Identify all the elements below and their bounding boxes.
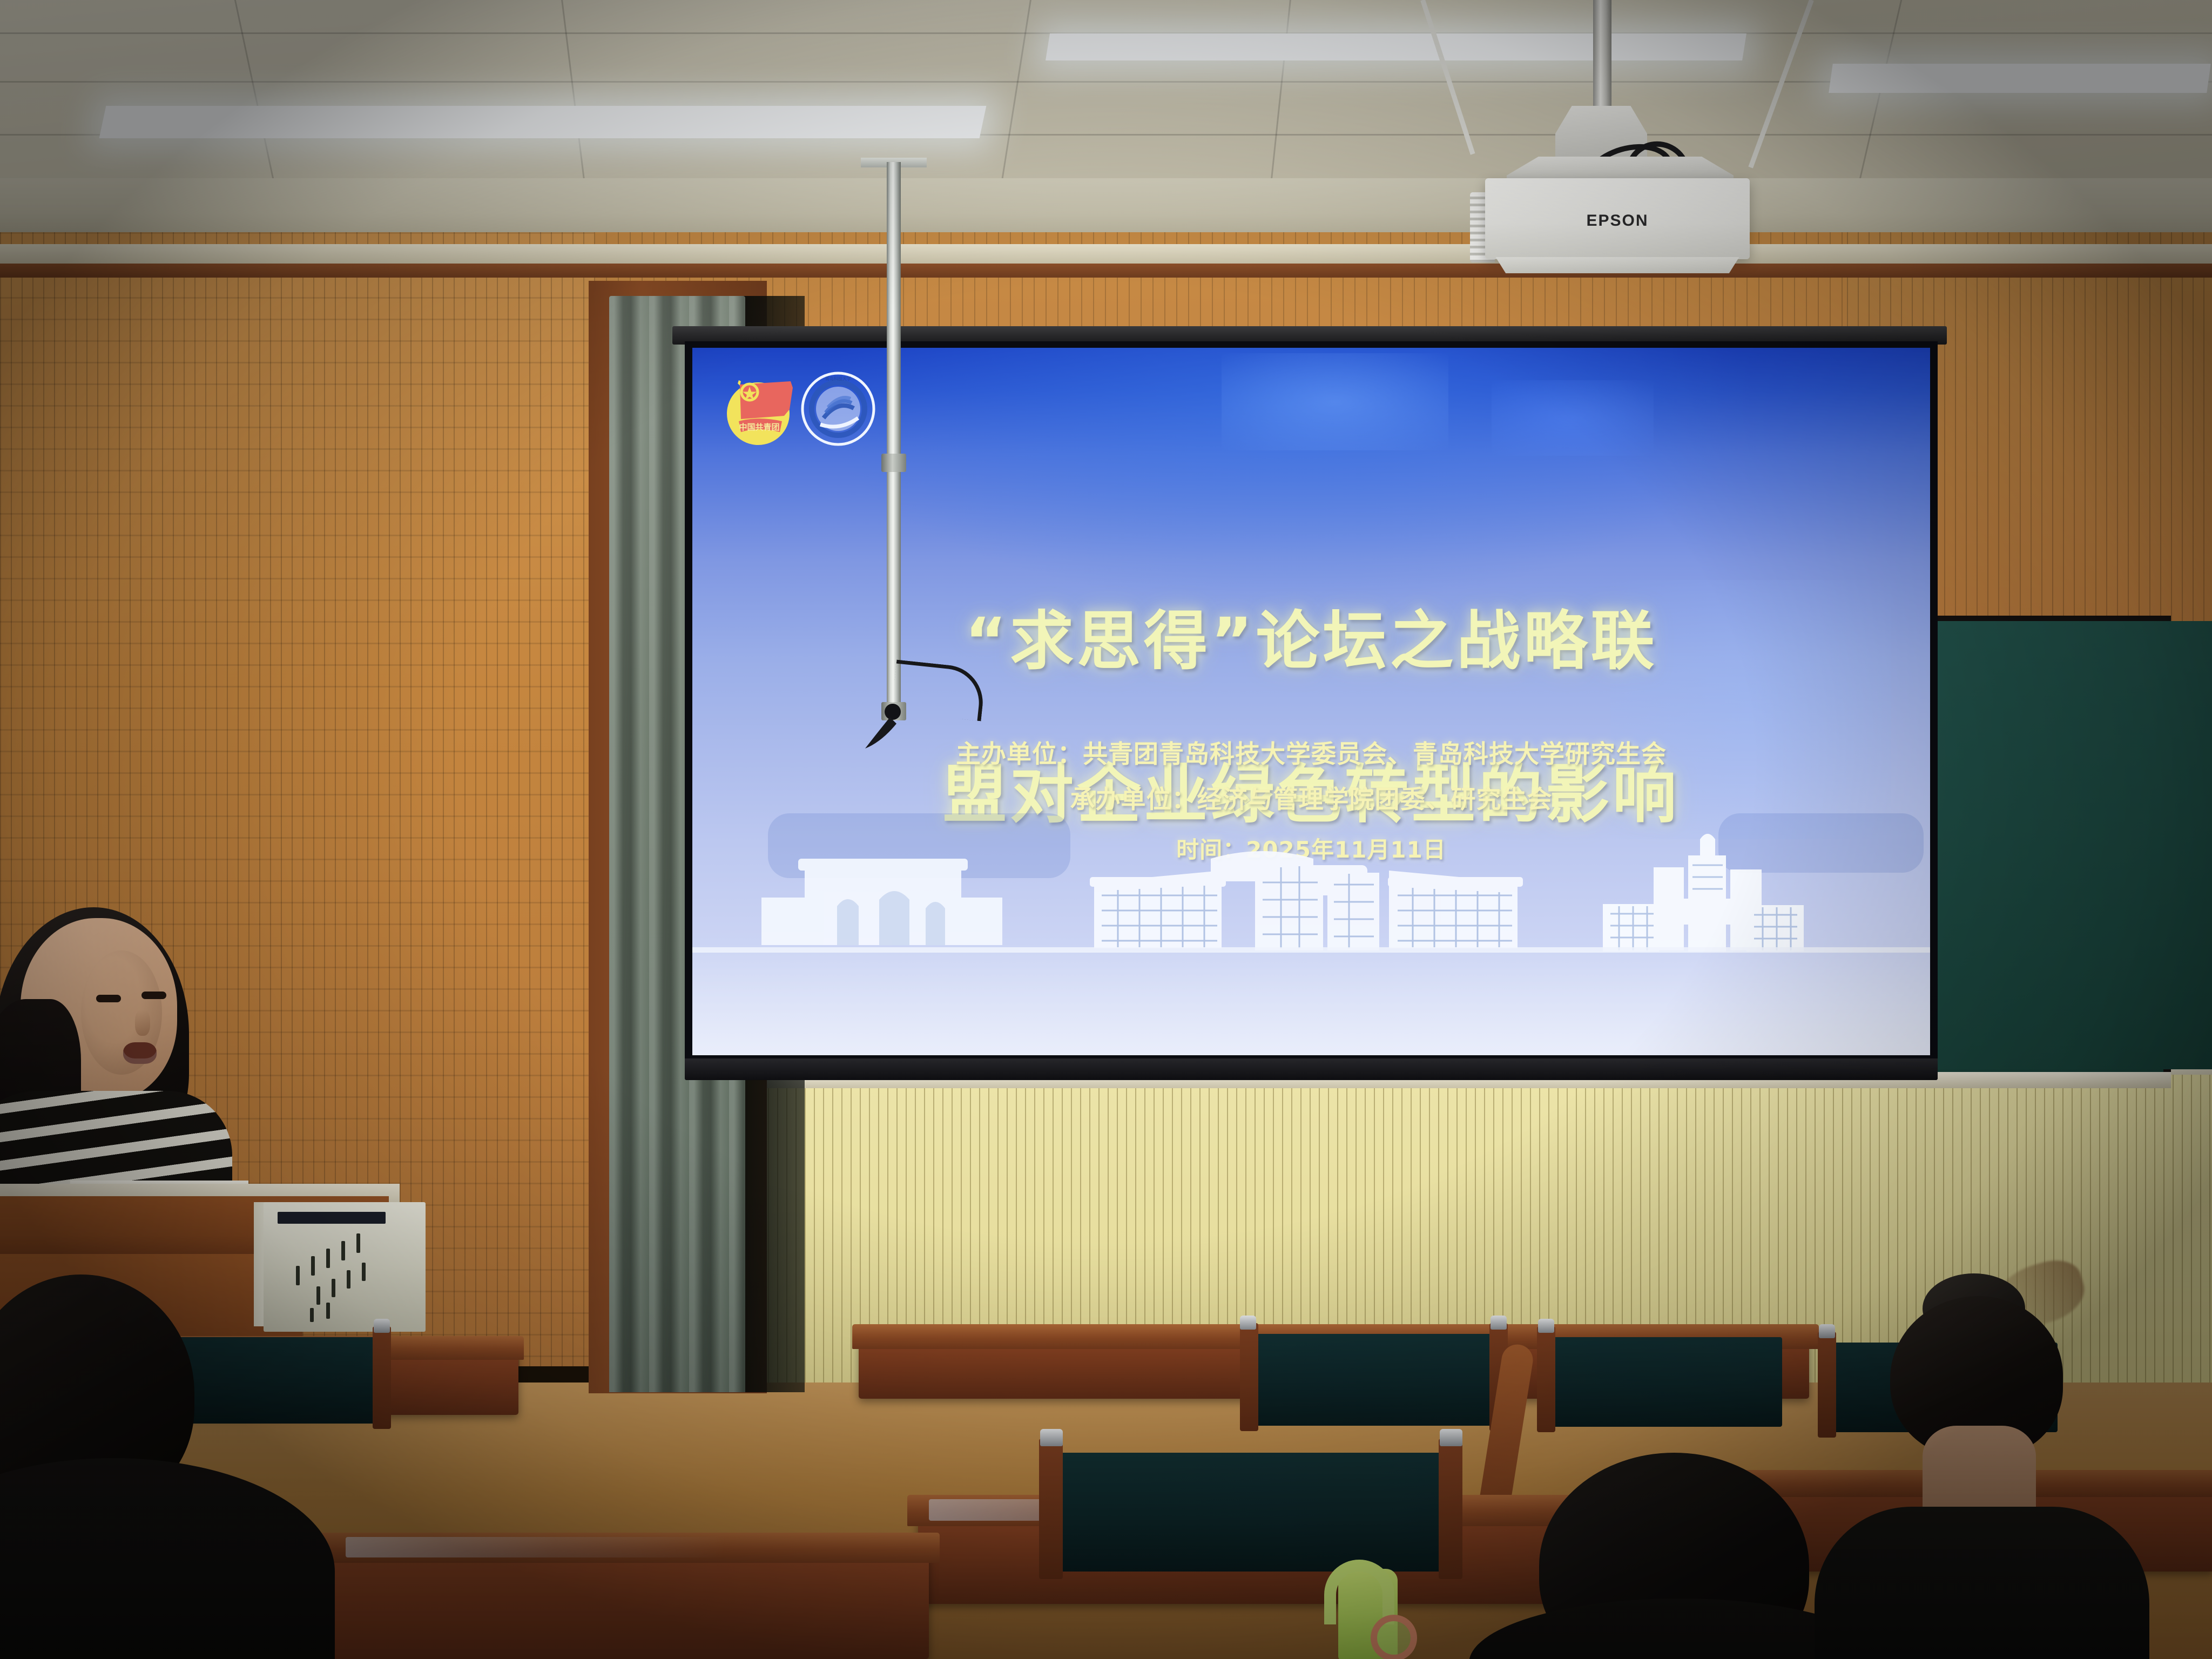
bench-desktop-reflection: [346, 1537, 724, 1557]
university-seal-text: 青岛科技大学: [825, 376, 851, 381]
audience-shoulder-right: [1815, 1507, 2149, 1659]
projection-screen-bottom-bar: [685, 1058, 1938, 1080]
lecture-hall-photo: 中国共青团 青岛科技大学 “求思得”论坛之战略联 盟对企业绿色转型的影响: [0, 0, 2212, 1659]
seat-frame: [1240, 1323, 1258, 1431]
seat-frame: [1537, 1326, 1555, 1432]
seat-frame: [1818, 1332, 1836, 1438]
presenter-nose: [135, 1010, 150, 1036]
projector-mount-rod: [1593, 0, 1611, 113]
wall-rail: [0, 244, 2212, 264]
microphone-pole: [887, 162, 901, 707]
seat-knob: [1538, 1319, 1554, 1333]
water-bottle-handle[interactable]: [1324, 1560, 1394, 1624]
projector: EPSON: [1485, 178, 1750, 259]
seat-frame: [1439, 1439, 1462, 1579]
water-bottle-ring: [1371, 1615, 1417, 1659]
ceiling-light-panel: [1046, 33, 1746, 60]
microphone-icon: [863, 702, 928, 751]
equipment-console[interactable]: [264, 1202, 426, 1332]
seat-frame: [373, 1326, 391, 1429]
projector-brand-label: EPSON: [1485, 212, 1750, 230]
wall-rail-wood: [0, 264, 2212, 278]
seat-frame: [1039, 1439, 1063, 1579]
seat-back[interactable]: [1550, 1337, 1782, 1427]
equipment-label: [278, 1212, 386, 1224]
seat-back[interactable]: [1253, 1334, 1496, 1426]
seat-knob: [1240, 1316, 1256, 1330]
seat-knob: [1819, 1324, 1835, 1338]
seat-back[interactable]: [1058, 1453, 1447, 1572]
slide-host-line: 承办单位：经济与管理学院团委、研究生会: [692, 780, 1930, 815]
chalkboard-right-section: [1923, 621, 2212, 1069]
university-seal-icon: 青岛科技大学: [798, 368, 879, 449]
communist-youth-league-emblem-icon: 中国共青团: [719, 369, 800, 450]
seat-knob: [1491, 1316, 1507, 1330]
ceiling-light-panel: [99, 106, 987, 138]
presenter-eye: [96, 995, 121, 1002]
cyl-emblem-text: 中国共青团: [739, 422, 779, 432]
seat-knob: [1440, 1429, 1462, 1446]
ceiling-light-panel: [1829, 64, 2211, 93]
presenter-eye: [141, 992, 166, 999]
projection-screen: 中国共青团 青岛科技大学 “求思得”论坛之战略联 盟对企业绿色转型的影响: [692, 348, 1930, 1055]
seat-knob: [1040, 1429, 1063, 1446]
seat-knob: [374, 1319, 390, 1333]
bench-desk: [324, 1555, 929, 1659]
presenter-mouth: [123, 1042, 157, 1064]
